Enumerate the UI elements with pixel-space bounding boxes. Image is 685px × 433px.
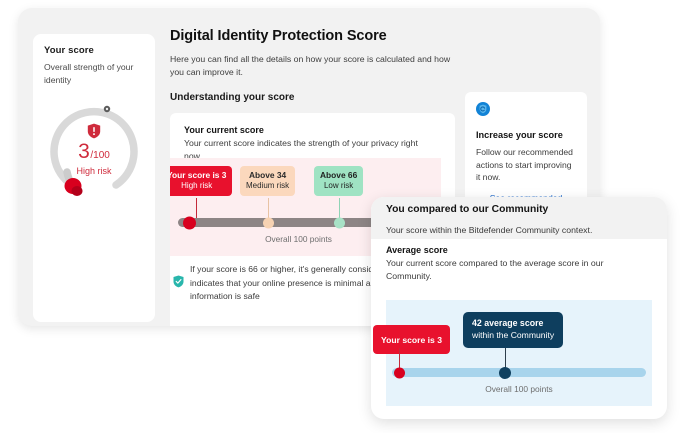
page-title: Digital Identity Protection Score bbox=[170, 28, 460, 44]
risk-badge-high-title: Your score is 3 bbox=[170, 170, 226, 180]
gauge-arc bbox=[45, 96, 143, 202]
current-score-heading: Your current score bbox=[184, 125, 441, 135]
increase-score-title: Increase your score bbox=[476, 130, 576, 140]
risk-dot-high bbox=[183, 216, 196, 229]
community-scale: Your score is 3 42 average score within … bbox=[386, 300, 652, 406]
your-score-title: Your score bbox=[44, 45, 94, 56]
risk-badge-high: Your score is 3 High risk bbox=[170, 166, 232, 196]
score-gauge: 3 /100 High risk bbox=[45, 96, 143, 206]
average-score-heading: Average score bbox=[386, 245, 652, 255]
your-score-subtitle: Overall strength of your identity bbox=[44, 61, 144, 86]
community-scale-track bbox=[392, 368, 646, 377]
shield-check-icon bbox=[173, 275, 184, 288]
refresh-shield-icon bbox=[476, 102, 490, 116]
section-title: Understanding your score bbox=[170, 92, 460, 103]
community-dot-average bbox=[499, 367, 511, 379]
community-badge-average-title: 42 average score bbox=[472, 318, 554, 329]
risk-badge-medium-title: Above 34 bbox=[246, 170, 289, 180]
risk-badge-high-subtitle: High risk bbox=[170, 181, 226, 191]
risk-badge-low-title: Above 66 bbox=[320, 170, 357, 180]
community-title: You compared to our Community bbox=[386, 204, 548, 215]
community-comparison-card: You compared to our Community Your score… bbox=[371, 197, 667, 419]
risk-badge-low: Above 66 Low risk bbox=[314, 166, 363, 196]
community-subtitle: Your score within the Bitdefender Commun… bbox=[386, 225, 592, 235]
average-score-block: Average score Your current score compare… bbox=[386, 245, 652, 283]
community-badge-your-score: Your score is 3 bbox=[373, 325, 450, 354]
page-description: Here you can find all the details on how… bbox=[170, 53, 455, 79]
risk-badge-medium-subtitle: Medium risk bbox=[246, 181, 289, 191]
community-dot-your-score bbox=[394, 367, 405, 378]
risk-badge-low-subtitle: Low risk bbox=[320, 181, 357, 191]
community-scale-caption: Overall 100 points bbox=[386, 384, 652, 394]
community-badge-your-score-label: Your score is 3 bbox=[381, 335, 442, 345]
risk-dot-low bbox=[334, 217, 345, 228]
risk-badge-group: Your score is 3 High risk Above 34 Mediu… bbox=[170, 166, 441, 198]
average-score-text: Your current score compared to the avera… bbox=[386, 257, 626, 283]
risk-badge-medium: Above 34 Medium risk bbox=[240, 166, 295, 196]
main-content-header: Digital Identity Protection Score Here y… bbox=[170, 28, 460, 112]
increase-score-text: Follow our recommended actions to start … bbox=[476, 146, 576, 184]
your-score-panel: Your score Overall strength of your iden… bbox=[33, 34, 155, 322]
community-badge-group: Your score is 3 42 average score within … bbox=[386, 310, 652, 348]
risk-dot-medium bbox=[263, 217, 274, 228]
community-badge-average-subtitle: within the Community bbox=[472, 330, 554, 341]
community-badge-average: 42 average score within the Community bbox=[463, 312, 563, 348]
